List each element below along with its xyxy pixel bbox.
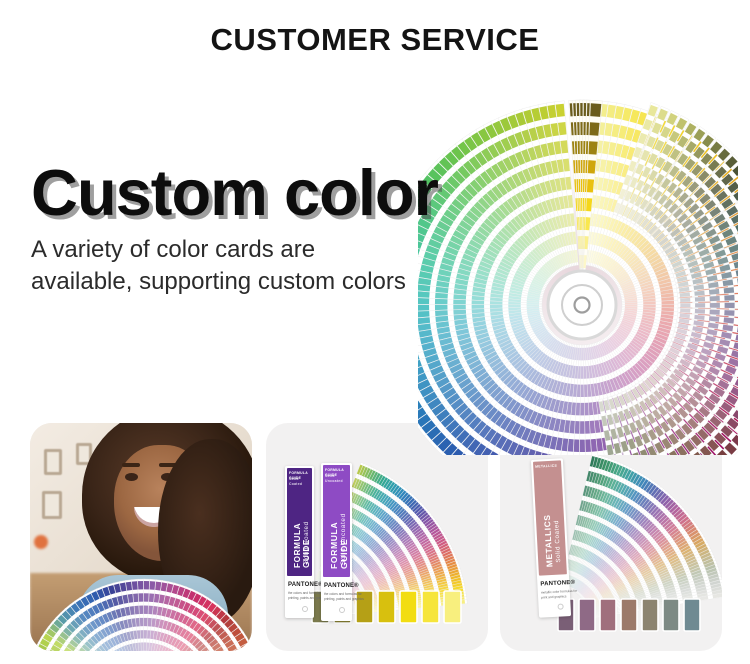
card-surface xyxy=(30,423,252,651)
cover-top-sublabel: Solid Coated xyxy=(289,477,312,487)
card-metallics-guide[interactable]: METALLICS METALLICS Solid Coated PANTONE… xyxy=(500,423,722,651)
brand-note: metallic color formulas for print and gr… xyxy=(541,588,584,601)
brand-pantone: PANTONE® xyxy=(288,582,323,588)
wall-frame xyxy=(42,491,62,519)
hero-section: Custom color A variety of color cards ar… xyxy=(0,70,750,400)
book-cover: METALLICS METALLICS Solid Coated xyxy=(533,460,567,575)
photo-woman-holding-fan xyxy=(30,423,252,651)
book-subtitle: Solid Uncoated xyxy=(340,493,347,565)
card-surface: FORMULA GUIDE Solid Coated FORMULA GUIDE… xyxy=(266,423,488,651)
cover-top-sublabel: Solid Uncoated xyxy=(325,474,350,484)
guide-book-uncoated: FORMULA GUIDE Solid Uncoated FORMULA GUI… xyxy=(321,463,352,621)
hero-subtext: A variety of color cards are available, … xyxy=(31,234,411,298)
hero-heading: Custom color xyxy=(31,160,438,225)
hero-fan-deck xyxy=(418,83,738,455)
metallics-guide-artwork: METALLICS METALLICS Solid Coated PANTONE… xyxy=(500,423,722,651)
cover-top-label: METALLICS xyxy=(535,464,557,470)
card-surface: METALLICS METALLICS Solid Coated PANTONE… xyxy=(500,423,722,651)
card-woman-holding-fan[interactable] xyxy=(30,423,252,651)
brand-pantone: PANTONE® xyxy=(324,583,359,589)
card-formula-guide[interactable]: FORMULA GUIDE Solid Coated FORMULA GUIDE… xyxy=(266,423,488,651)
eyebrow xyxy=(122,463,140,467)
rivet-hole xyxy=(557,603,563,609)
rivet-hole xyxy=(302,606,308,612)
eye xyxy=(125,473,138,481)
metallics-guide-fan xyxy=(500,423,722,651)
brand-note: the colors and formulas for printing, pa… xyxy=(324,592,366,603)
book-subtitle: Solid Coated xyxy=(303,498,310,564)
held-fan-deck xyxy=(30,547,252,651)
book-cover: FORMULA GUIDE Solid Uncoated FORMULA GUI… xyxy=(323,465,350,577)
wall-frame xyxy=(44,449,62,475)
formula-guide-artwork: FORMULA GUIDE Solid Coated FORMULA GUIDE… xyxy=(266,423,488,651)
fan-deck-graphic xyxy=(418,83,738,455)
rivet-hole xyxy=(339,607,345,613)
page-title: CUSTOMER SERVICE xyxy=(0,22,750,58)
guide-book-coated: FORMULA GUIDE Solid Coated FORMULA GUIDE… xyxy=(285,466,314,618)
book-cover: FORMULA GUIDE Solid Coated FORMULA GUIDE… xyxy=(287,468,312,576)
